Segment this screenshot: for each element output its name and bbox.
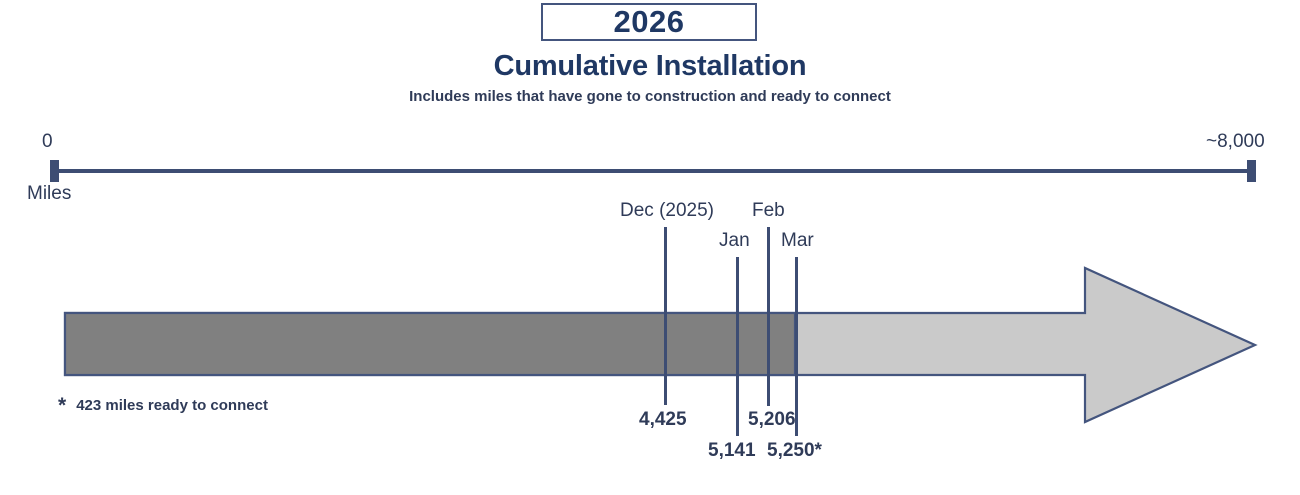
page-subtitle: Includes miles that have gone to constru…	[0, 88, 1300, 105]
callout-value-feb: 5,206	[748, 409, 796, 431]
axis-cap-right	[1247, 160, 1256, 182]
callout-line-jan	[736, 257, 739, 436]
callout-line-feb	[767, 227, 770, 406]
asterisk-icon: *	[58, 394, 66, 417]
year-label: 2026	[543, 5, 755, 39]
axis-line	[54, 169, 1254, 173]
callout-label-feb: Feb	[752, 200, 785, 222]
callout-value-dec-2025: 4,425	[639, 409, 687, 431]
callout-label-mar: Mar	[781, 230, 814, 252]
footnote: *423 miles ready to connect	[58, 394, 268, 418]
axis-unit-label: Miles	[27, 183, 71, 205]
year-badge: 2026	[541, 3, 757, 41]
cumulative-installation-chart: 2026 Cumulative Installation Includes mi…	[0, 0, 1300, 495]
callout-value-mar: 5,250*	[767, 440, 822, 462]
axis-cap-left	[50, 160, 59, 182]
axis-max-label: ~8,000	[1206, 131, 1265, 153]
callout-value-jan: 5,141	[708, 440, 756, 462]
arrow-completed-segment	[65, 313, 795, 375]
callout-label-dec-2025: Dec (2025)	[620, 200, 714, 222]
callout-label-jan: Jan	[719, 230, 750, 252]
axis-min-label: 0	[42, 131, 53, 153]
callout-line-dec-2025	[664, 227, 667, 405]
footnote-text: 423 miles ready to connect	[76, 397, 268, 414]
callout-line-mar	[795, 257, 798, 436]
page-title: Cumulative Installation	[0, 50, 1300, 83]
